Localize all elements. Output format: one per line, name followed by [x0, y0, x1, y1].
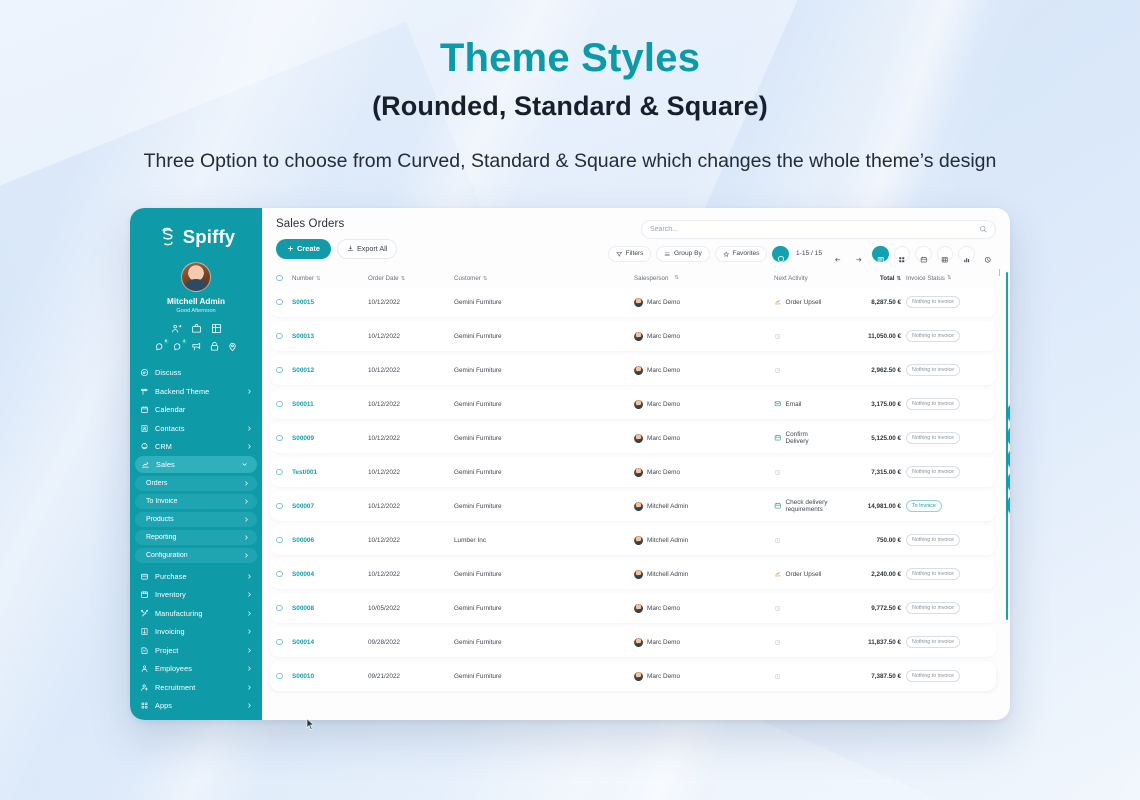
salesperson-name: Marc Demo [647, 673, 680, 680]
chevron-right-icon [246, 591, 253, 598]
row-checkbox[interactable] [276, 503, 292, 510]
favorite-rail-button[interactable] [1008, 404, 1010, 422]
sidebar-item-recruitment[interactable]: Recruitment [130, 678, 262, 697]
download-icon [347, 245, 354, 252]
sidebar-menu: DiscussBackend ThemeCalendarContactsCRMS… [130, 364, 262, 720]
next-activity-label: Email [786, 401, 802, 408]
cell-number[interactable]: S00014 [292, 639, 368, 646]
group-by-button[interactable]: Group By [656, 246, 709, 263]
view-toggle-list[interactable] [872, 246, 889, 263]
salesperson-name: Marc Demo [647, 299, 680, 306]
table-row[interactable]: S0001009/21/2022Gemini FurnitureMarc Dem… [270, 661, 996, 691]
clock-icon [774, 537, 781, 544]
sidebar-item-crm[interactable]: CRM [130, 438, 262, 457]
sidebar-subitem-to-invoice[interactable]: To Invoice [135, 494, 257, 510]
table-row[interactable]: S0000610/12/2022Lumber IncMitchell Admin… [270, 525, 996, 555]
cell-salesperson: Marc Demo [634, 434, 774, 443]
cell-salesperson: Mitchell Admin [634, 536, 774, 545]
sort-arrows-icon: ⇅ [896, 276, 901, 282]
cell-order-date: 10/12/2022 [368, 401, 454, 408]
chevron-right-icon [246, 647, 253, 654]
row-checkbox[interactable] [276, 299, 292, 306]
chevron-right-icon [246, 443, 253, 450]
chat-bubble-icon[interactable]: 6 [155, 341, 166, 352]
arrow-left-icon [834, 250, 842, 258]
cell-order-date: 10/12/2022 [368, 299, 454, 306]
table-row[interactable]: S0001510/12/2022Gemini FurnitureMarc Dem… [270, 287, 996, 317]
sidebar-item-label: Purchase [155, 572, 246, 581]
salesperson-avatar [634, 502, 643, 511]
cell-customer: Gemini Furniture [454, 639, 634, 646]
sidebar-item-label: Contacts [155, 424, 246, 433]
search-icon[interactable] [979, 225, 987, 233]
salesperson-avatar [634, 638, 643, 647]
column-header-label: Next Activity [774, 275, 808, 282]
table-row[interactable]: Test/00110/12/2022Gemini FurnitureMarc D… [270, 457, 996, 487]
next-page-button[interactable] [851, 246, 868, 263]
sidebar-item-label: Apps [155, 701, 246, 710]
column-header-salesperson[interactable]: Salesperson⇅ [634, 275, 774, 282]
chevron-right-icon [246, 628, 253, 635]
order-number-link[interactable]: S00007 [292, 503, 314, 510]
status-badge: To Invoice [906, 500, 942, 512]
row-checkbox[interactable] [276, 571, 292, 578]
cell-salesperson: Marc Demo [634, 298, 774, 307]
cell-number[interactable]: S00013 [292, 333, 368, 340]
sidebar-item-label: Recruitment [155, 683, 246, 692]
sort-arrows-icon: ⇅ [483, 276, 488, 282]
sort-arrows-icon: ⇅ [947, 275, 952, 282]
cell-number[interactable]: S00008 [292, 605, 368, 612]
profile-greeting: Good Afternoon [130, 308, 262, 314]
salesperson-avatar [634, 434, 643, 443]
chat-badge: 6 [164, 339, 169, 344]
cell-next-activity[interactable] [774, 537, 828, 544]
order-number-link[interactable]: S00009 [292, 435, 314, 442]
status-badge: Nothing to invoice [906, 670, 960, 682]
table-row[interactable]: S0001110/12/2022Gemini FurnitureMarc Dem… [270, 389, 996, 419]
sidebar-subitem-products[interactable]: Products [135, 512, 257, 528]
status-badge: Nothing to invoice [906, 534, 960, 546]
cell-total: 8,287.50 € [828, 299, 906, 306]
cell-salesperson: Marc Demo [634, 366, 774, 375]
cell-total: 9,772.50 € [828, 605, 906, 612]
status-badge: Nothing to invoice [906, 432, 960, 444]
row-checkbox[interactable] [276, 537, 292, 544]
row-checkbox[interactable] [276, 673, 292, 680]
next-activity-label: Order Upsell [786, 299, 822, 306]
sort-arrows-icon: ⇅ [674, 275, 679, 281]
cell-customer: Gemini Furniture [454, 503, 634, 510]
row-checkbox[interactable] [276, 333, 292, 340]
filter-icon [616, 251, 623, 258]
cell-next-activity[interactable]: Order Upsell [774, 570, 828, 578]
order-number-link[interactable]: S00012 [292, 367, 314, 374]
crm-icon [140, 442, 149, 451]
cell-salesperson: Marc Demo [634, 468, 774, 477]
table-row[interactable]: S0001409/28/2022Gemini FurnitureMarc Dem… [270, 627, 996, 657]
column-header-total[interactable]: Total⇅ [828, 275, 906, 282]
view-toggle-calendar[interactable] [915, 246, 932, 263]
filters-button[interactable]: Filters [608, 246, 651, 263]
chevron-right-icon [243, 516, 250, 523]
invoicing-icon [140, 627, 149, 636]
salesperson-avatar [634, 332, 643, 341]
cell-number[interactable]: S00004 [292, 571, 368, 578]
message-bubble-icon[interactable]: 4 [173, 341, 184, 352]
column-header-next-activity[interactable]: Next Activity [774, 275, 828, 282]
salesperson-avatar [634, 298, 643, 307]
sidebar-item-purchase[interactable]: Purchase [130, 567, 262, 586]
salesperson-avatar [634, 570, 643, 579]
chevron-right-icon [243, 534, 250, 541]
cell-customer: Gemini Furniture [454, 435, 634, 442]
salesperson-name: Marc Demo [647, 333, 680, 340]
star-icon [723, 251, 730, 258]
salesperson-avatar [634, 536, 643, 545]
cell-next-activity[interactable]: Check delivery requirements [774, 499, 828, 513]
clock-icon [774, 639, 781, 646]
cell-salesperson: Marc Demo [634, 604, 774, 613]
column-header-label: Order Date [368, 275, 399, 282]
cell-next-activity[interactable]: Confirm Delivery [774, 431, 828, 445]
cell-invoice-status: Nothing to invoice [906, 602, 982, 614]
order-number-link[interactable]: S00011 [292, 401, 314, 408]
chevron-right-icon [243, 480, 250, 487]
order-number-link[interactable]: S00004 [292, 571, 314, 578]
salesperson-avatar [634, 672, 643, 681]
table-row[interactable]: S0001210/12/2022Gemini FurnitureMarc Dem… [270, 355, 996, 385]
view-toggle-graph[interactable] [958, 246, 975, 263]
cell-number[interactable]: S00015 [292, 299, 368, 306]
cell-total: 14,981.00 € [828, 503, 906, 510]
sidebar-item-employees[interactable]: Employees [130, 660, 262, 679]
cell-customer: Gemini Furniture [454, 299, 634, 306]
spiffy-logo-icon [157, 226, 178, 247]
cell-invoice-status: Nothing to invoice [906, 432, 982, 444]
salesperson-name: Marc Demo [647, 435, 680, 442]
chevron-right-icon [246, 573, 253, 580]
column-header-customer[interactable]: Customer⇅ [454, 275, 634, 282]
next-activity-label: Order Upsell [786, 571, 822, 578]
app-window: Spiffy Mitchell Admin Good Afternoon [130, 208, 1010, 720]
salesperson-name: Mitchell Admin [647, 571, 688, 578]
inventory-icon [140, 590, 149, 599]
calendar-icon [920, 250, 928, 258]
calendar-icon [774, 434, 782, 442]
profile-quick-icons-row-1 [130, 323, 262, 334]
sidebar-item-backend-theme[interactable]: Backend Theme [130, 382, 262, 401]
salesperson-name: Marc Demo [647, 639, 680, 646]
sidebar-item-apps[interactable]: Apps [130, 697, 262, 716]
megaphone-icon[interactable] [191, 341, 202, 352]
cell-salesperson: Mitchell Admin [634, 502, 774, 511]
cell-total: 3,175.00 € [828, 401, 906, 408]
cell-next-activity[interactable]: Order Upsell [774, 298, 828, 306]
hero-description: Three Option to choose from Curved, Stan… [0, 148, 1140, 176]
sidebar-item-inventory[interactable]: Inventory [130, 586, 262, 605]
profile-name: Mitchell Admin [130, 297, 262, 306]
status-badge: Nothing to invoice [906, 466, 960, 478]
cell-customer: Gemini Furniture [454, 469, 634, 476]
cell-invoice-status: Nothing to invoice [906, 568, 982, 580]
employees-icon [140, 664, 149, 673]
loading-spinner-button[interactable] [772, 246, 789, 263]
sidebar-item-label: Backend Theme [155, 387, 246, 396]
column-header-label: Salesperson [634, 275, 668, 282]
upsell-chart-icon [774, 570, 782, 578]
row-checkbox[interactable] [276, 367, 292, 374]
cell-customer: Lumber Inc [454, 537, 634, 544]
brand-name: Spiffy [183, 226, 236, 248]
list-icon [877, 250, 885, 258]
cell-number[interactable]: S00012 [292, 367, 368, 374]
next-activity-label: Check delivery requirements [786, 499, 829, 513]
cell-customer: Gemini Furniture [454, 401, 634, 408]
search-rail-button[interactable] [1008, 427, 1010, 445]
cell-salesperson: Marc Demo [634, 672, 774, 681]
sidebar-subitem-label: Orders [146, 480, 243, 487]
prev-page-button[interactable] [829, 246, 846, 263]
cell-total: 7,315.00 € [828, 469, 906, 476]
chevron-right-icon [246, 702, 253, 709]
sidebar-item-label: Employees [155, 664, 246, 673]
sidebar-subitem-label: Reporting [146, 534, 243, 541]
cell-invoice-status: Nothing to invoice [906, 296, 982, 308]
mouse-cursor [306, 718, 315, 730]
cell-salesperson: Mitchell Admin [634, 570, 774, 579]
sidebar-subitem-orders[interactable]: Orders [135, 476, 257, 492]
sidebar-item-label: Sales [156, 460, 241, 469]
table-header-row: Number⇅Order Date⇅Customer⇅Salesperson⇅N… [270, 269, 996, 287]
clock-icon [774, 673, 781, 680]
project-icon [140, 646, 149, 655]
contacts-icon [140, 424, 149, 433]
sidebar-item-sales[interactable]: Sales [135, 456, 257, 473]
list-lines-icon [664, 251, 671, 258]
column-header-label: Invoice Status [906, 275, 945, 282]
column-header-label: Total [880, 275, 895, 282]
sidebar-subitem-label: Configuration [146, 552, 243, 559]
column-header-order-date[interactable]: Order Date⇅ [368, 275, 454, 282]
salesperson-name: Marc Demo [647, 469, 680, 476]
calendar-icon [140, 405, 149, 414]
upsell-chart-icon [774, 298, 782, 306]
cell-next-activity[interactable] [774, 333, 828, 340]
salesperson-name: Mitchell Admin [647, 537, 688, 544]
floating-action-rail [1008, 404, 1010, 514]
avatar[interactable] [181, 262, 211, 292]
cell-number[interactable]: S00011 [292, 401, 368, 408]
cell-invoice-status: Nothing to invoice [906, 398, 982, 410]
row-checkbox[interactable] [276, 605, 292, 612]
email-icon [774, 400, 782, 408]
page-title: Sales Orders [276, 218, 397, 230]
column-header-label: Number [292, 275, 314, 282]
cell-invoice-status: Nothing to invoice [906, 670, 982, 682]
create-button-label: Create [297, 244, 320, 253]
cell-next-activity[interactable]: Email [774, 400, 828, 408]
profile-quick-icons-row-2: 6 4 [130, 341, 262, 352]
sidebar-item-label: Project [155, 646, 246, 655]
cell-next-activity[interactable] [774, 673, 828, 680]
cell-total: 2,240.00 € [828, 571, 906, 578]
sidebar-item-manufacturing[interactable]: Manufacturing [130, 604, 262, 623]
main-content: Sales Orders Create Export All [262, 208, 1010, 720]
row-checkbox[interactable] [276, 435, 292, 442]
clock-icon [774, 333, 781, 340]
cell-total: 5,125.00 € [828, 435, 906, 442]
table-row[interactable]: S0000710/12/2022Gemini FurnitureMitchell… [270, 491, 996, 521]
sidebar-subitem-configuration[interactable]: Configuration [135, 548, 257, 564]
export-all-label: Export All [357, 244, 387, 253]
apps-icon [140, 701, 149, 710]
cell-customer: Gemini Furniture [454, 673, 634, 680]
column-header-label: Customer [454, 275, 481, 282]
order-number-link[interactable]: Test/001 [292, 469, 317, 476]
circle-icon [777, 250, 785, 258]
order-number-link[interactable]: S00013 [292, 333, 314, 340]
sidebar: Spiffy Mitchell Admin Good Afternoon [130, 208, 262, 720]
table-row[interactable]: S0000810/05/2022Gemini FurnitureMarc Dem… [270, 593, 996, 623]
cell-customer: Gemini Furniture [454, 605, 634, 612]
lock-icon[interactable] [209, 341, 220, 352]
view-toggle-kanban[interactable] [894, 246, 911, 263]
status-badge: Nothing to invoice [906, 602, 960, 614]
row-checkbox[interactable] [276, 401, 292, 408]
arrow-right-icon [855, 250, 863, 258]
chevron-right-icon [246, 610, 253, 617]
chevron-right-icon [243, 498, 250, 505]
cell-number[interactable]: S00006 [292, 537, 368, 544]
cell-salesperson: Marc Demo [634, 638, 774, 647]
location-pin-icon[interactable] [227, 341, 238, 352]
favorites-button[interactable]: Favorites [715, 246, 768, 263]
status-badge: Nothing to invoice [906, 364, 960, 376]
row-checkbox[interactable] [276, 469, 292, 476]
fullscreen-rail-button[interactable] [1008, 450, 1010, 468]
save-rail-button[interactable] [1008, 496, 1010, 514]
view-toggle-activity[interactable] [980, 246, 997, 263]
briefcase-icon[interactable] [191, 323, 202, 334]
status-badge: Nothing to invoice [906, 296, 960, 308]
order-number-link[interactable]: S00015 [292, 299, 314, 306]
select-all-checkbox[interactable] [276, 275, 292, 282]
order-number-link[interactable]: S00014 [292, 639, 314, 646]
pivot-icon [941, 250, 949, 258]
sidebar-subitem-label: To Invoice [146, 498, 243, 505]
plus-icon [287, 245, 294, 252]
pager-text: 1-15 / 15 [794, 250, 824, 257]
cell-order-date: 10/12/2022 [368, 367, 454, 374]
table-row[interactable]: S0000910/12/2022Gemini FurnitureMarc Dem… [270, 423, 996, 453]
discuss-icon [140, 368, 149, 377]
table-body: S0001510/12/2022Gemini FurnitureMarc Dem… [270, 287, 996, 691]
cell-total: 7,387.50 € [828, 673, 906, 680]
user-switch-icon[interactable] [171, 323, 182, 334]
theme-icon [140, 387, 149, 396]
status-badge: Nothing to invoice [906, 636, 960, 648]
cell-number[interactable]: Test/001 [292, 469, 368, 476]
table-row[interactable]: S0000410/12/2022Gemini FurnitureMitchell… [270, 559, 996, 589]
order-number-link[interactable]: S00008 [292, 605, 314, 612]
zoom-rail-button[interactable] [1008, 473, 1010, 491]
grid-apps-icon[interactable] [211, 323, 222, 334]
cell-invoice-status: Nothing to invoice [906, 364, 982, 376]
sidebar-item-discuss[interactable]: Discuss [130, 364, 262, 383]
graph-icon [963, 250, 971, 258]
search-input[interactable] [650, 226, 979, 233]
toolbar: Sales Orders Create Export All [262, 208, 1010, 263]
cell-next-activity[interactable] [774, 367, 828, 374]
cell-salesperson: Marc Demo [634, 332, 774, 341]
status-badge: Nothing to invoice [906, 330, 960, 342]
sort-arrows-icon: ⇅ [401, 276, 406, 282]
create-button[interactable]: Create [276, 239, 331, 259]
cell-next-activity[interactable] [774, 469, 828, 476]
cell-total: 2,962.50 € [828, 367, 906, 374]
profile-block: Mitchell Admin Good Afternoon 6 [130, 262, 262, 352]
export-all-button[interactable]: Export All [337, 239, 397, 259]
order-number-link[interactable]: S00010 [292, 673, 314, 680]
cell-order-date: 10/05/2022 [368, 605, 454, 612]
salesperson-avatar [634, 468, 643, 477]
manufacturing-icon [140, 609, 149, 618]
salesperson-avatar [634, 604, 643, 613]
sidebar-item-label: Invoicing [155, 627, 246, 636]
cell-invoice-status: Nothing to invoice [906, 534, 982, 546]
cell-order-date: 10/12/2022 [368, 469, 454, 476]
sidebar-item-label: CRM [155, 442, 246, 451]
cell-number[interactable]: S00010 [292, 673, 368, 680]
cell-next-activity[interactable] [774, 605, 828, 612]
group-by-label: Group By [674, 250, 702, 257]
cell-number[interactable]: S00009 [292, 435, 368, 442]
cell-order-date: 10/12/2022 [368, 435, 454, 442]
order-number-link[interactable]: S00006 [292, 537, 314, 544]
hero-title: Theme Styles [0, 36, 1140, 81]
chevron-right-icon [246, 388, 253, 395]
search-bar[interactable] [641, 220, 996, 239]
sidebar-item-contacts[interactable]: Contacts [130, 419, 262, 438]
sidebar-item-project[interactable]: Project [130, 641, 262, 660]
clock-icon [774, 469, 781, 476]
favorites-label: Favorites [732, 250, 759, 257]
chevron-down-icon [241, 461, 248, 468]
clock-icon [984, 250, 992, 258]
sidebar-item-invoicing[interactable]: Invoicing [130, 623, 262, 642]
kanban-icon [898, 250, 906, 258]
sidebar-item-calendar[interactable]: Calendar [130, 401, 262, 420]
salesperson-avatar [634, 400, 643, 409]
column-header-number[interactable]: Number⇅ [292, 275, 368, 282]
view-toggle-pivot[interactable] [937, 246, 954, 263]
cell-order-date: 09/21/2022 [368, 673, 454, 680]
sidebar-subitem-reporting[interactable]: Reporting [135, 530, 257, 546]
row-checkbox[interactable] [276, 639, 292, 646]
brand-logo[interactable]: Spiffy [130, 220, 262, 252]
column-header-invoice-status[interactable]: Invoice Status⇅ [906, 275, 982, 282]
orders-table: Number⇅Order Date⇅Customer⇅Salesperson⇅N… [262, 269, 1010, 720]
cell-invoice-status: Nothing to invoice [906, 330, 982, 342]
sidebar-item-settings[interactable]: Settings [130, 715, 262, 720]
table-row[interactable]: S0001310/12/2022Gemini FurnitureMarc Dem… [270, 321, 996, 351]
cell-next-activity[interactable] [774, 639, 828, 646]
sort-arrows-icon: ⇅ [316, 276, 321, 282]
view-controls: Filters Group By Favorites [608, 246, 996, 263]
sidebar-item-label: Discuss [155, 368, 253, 377]
cell-number[interactable]: S00007 [292, 503, 368, 510]
